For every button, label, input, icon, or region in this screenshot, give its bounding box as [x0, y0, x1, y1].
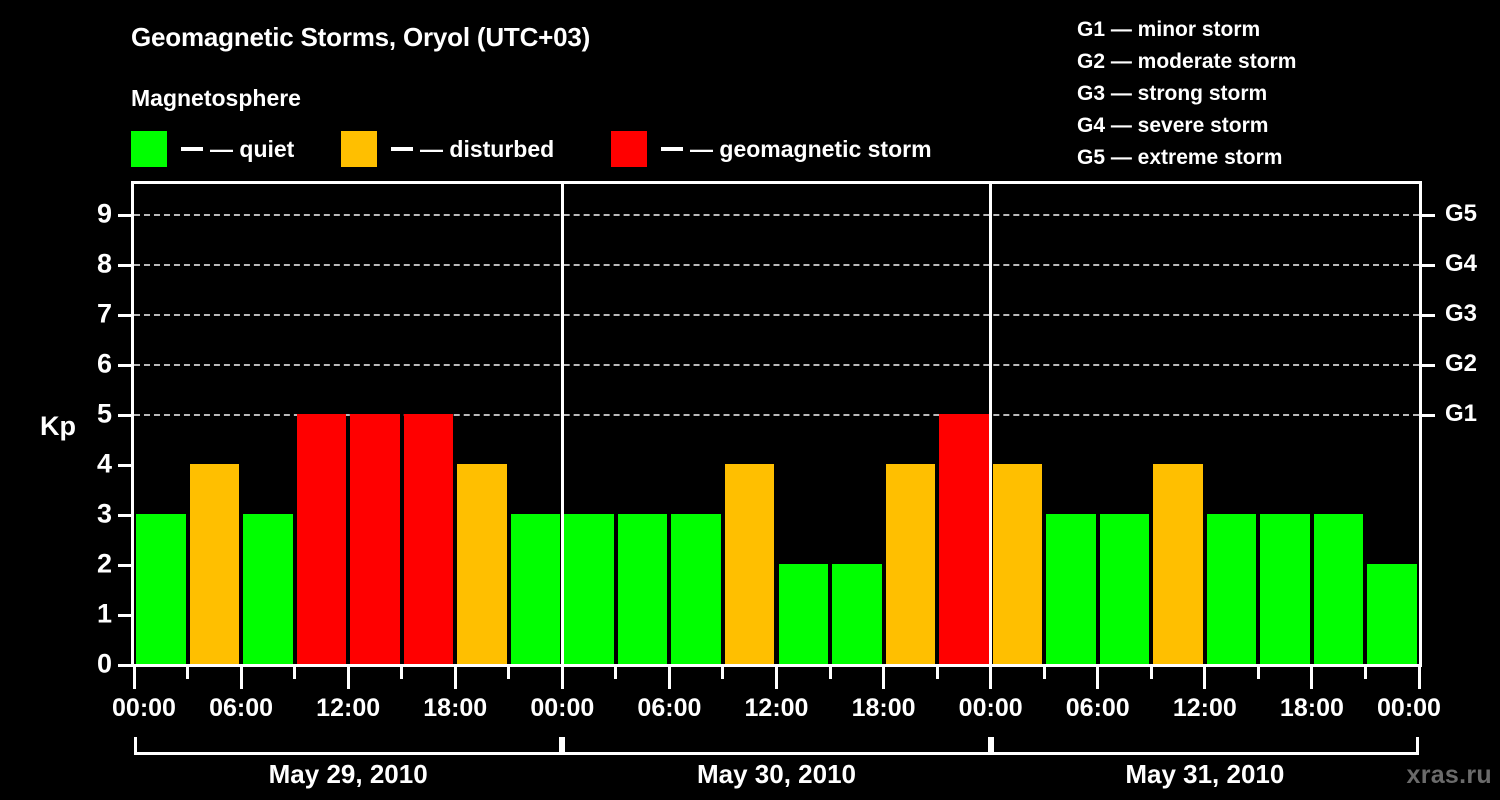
x-tick-minor [1257, 667, 1260, 679]
gridline-kp-8 [134, 264, 1419, 266]
x-tick-label-3: 18:00 [423, 694, 487, 723]
y-tick-1 [118, 614, 131, 617]
day-separator-1 [561, 184, 564, 664]
x-tick-minor [936, 667, 939, 679]
bar[interactable] [779, 564, 829, 664]
legend-dash-icon [181, 147, 203, 151]
legend-label: — geomagnetic storm [690, 136, 932, 163]
bar[interactable] [1046, 514, 1096, 664]
y-tick-label-9: 9 [82, 199, 112, 230]
x-tick-label-0: 00:00 [112, 694, 176, 723]
x-tick-major [347, 667, 350, 689]
y-tick-2 [118, 564, 131, 567]
x-tick-major [1418, 667, 1421, 689]
plot-area: 0123456789G1G2G3G4G500:0006:0012:0018:00… [131, 181, 1422, 667]
x-tick-major [989, 667, 992, 689]
x-tick-minor [1364, 667, 1367, 679]
bar[interactable] [243, 514, 293, 664]
legend-dash-icon [661, 147, 683, 151]
bar[interactable] [136, 514, 186, 664]
x-tick-label-5: 06:00 [637, 694, 701, 723]
disturbed-swatch [341, 131, 377, 167]
storm-swatch [611, 131, 647, 167]
x-tick-major [133, 667, 136, 689]
x-tick-major [668, 667, 671, 689]
bar[interactable] [190, 464, 240, 664]
y-tick-5 [118, 414, 131, 417]
x-tick-major [1310, 667, 1313, 689]
x-tick-label-10: 12:00 [1173, 694, 1237, 723]
y-axis-title: Kp [40, 411, 76, 442]
gscale-line-2: G2 — moderate storm [1077, 46, 1296, 78]
bar[interactable] [832, 564, 882, 664]
date-label-3: May 31, 2010 [1125, 759, 1284, 790]
date-label-1: May 29, 2010 [269, 759, 428, 790]
bar[interactable] [564, 514, 614, 664]
x-tick-minor [614, 667, 617, 679]
y-tick-label-3: 3 [82, 499, 112, 530]
x-tick-major [1096, 667, 1099, 689]
gscale-line-3: G3 — strong storm [1077, 78, 1296, 110]
x-tick-label-7: 18:00 [852, 694, 916, 723]
y-tick-label-0: 0 [82, 649, 112, 680]
date-label-2: May 30, 2010 [697, 759, 856, 790]
bar[interactable] [297, 414, 347, 664]
g-label-G3: G3 [1445, 300, 1477, 328]
x-tick-major [882, 667, 885, 689]
day-separator-2 [989, 184, 992, 664]
gridline-kp-9 [134, 214, 1419, 216]
x-tick-minor [1150, 667, 1153, 679]
date-bracket-3 [991, 737, 1419, 755]
plot-inner: 0123456789G1G2G3G4G500:0006:0012:0018:00… [134, 184, 1419, 664]
y-tick-3 [118, 514, 131, 517]
g-label-G2: G2 [1445, 350, 1477, 378]
gscale-line-1: G1 — minor storm [1077, 14, 1296, 46]
legend-item-0: — quiet [131, 131, 294, 167]
x-tick-label-2: 12:00 [316, 694, 380, 723]
y-tick-0 [118, 664, 131, 667]
y-tick-8 [118, 264, 131, 267]
watermark: xras.ru [1407, 761, 1493, 790]
legend-item-2: — geomagnetic storm [611, 131, 932, 167]
x-tick-label-4: 00:00 [530, 694, 594, 723]
page-title: Geomagnetic Storms, Oryol (UTC+03) [131, 22, 590, 53]
bar[interactable] [404, 414, 454, 664]
x-tick-minor [186, 667, 189, 679]
bar[interactable] [725, 464, 775, 664]
x-tick-minor [1043, 667, 1046, 679]
g-tick-G3 [1422, 314, 1435, 317]
x-tick-major [1203, 667, 1206, 689]
x-tick-major [561, 667, 564, 689]
x-tick-label-8: 00:00 [959, 694, 1023, 723]
x-tick-minor [507, 667, 510, 679]
bar[interactable] [886, 464, 936, 664]
quiet-swatch [131, 131, 167, 167]
bar[interactable] [350, 414, 400, 664]
x-tick-label-12: 00:00 [1377, 694, 1441, 723]
y-tick-label-4: 4 [82, 449, 112, 480]
geomagnetic-storm-chart: Geomagnetic Storms, Oryol (UTC+03) Magne… [0, 0, 1500, 800]
date-bracket-2 [562, 737, 990, 755]
bar[interactable] [1314, 514, 1364, 664]
x-tick-label-11: 18:00 [1280, 694, 1344, 723]
gridline-kp-7 [134, 314, 1419, 316]
x-tick-minor [400, 667, 403, 679]
x-tick-minor [829, 667, 832, 679]
legend-item-1: — disturbed [341, 131, 554, 167]
gscale-line-4: G4 — severe storm [1077, 110, 1296, 142]
bar[interactable] [1260, 514, 1310, 664]
bar[interactable] [1100, 514, 1150, 664]
bar[interactable] [939, 414, 989, 664]
y-tick-4 [118, 464, 131, 467]
y-tick-7 [118, 314, 131, 317]
legend-dash-icon [391, 147, 413, 151]
y-tick-9 [118, 214, 131, 217]
bar[interactable] [618, 514, 668, 664]
legend-label: — quiet [210, 136, 294, 163]
bar[interactable] [511, 514, 561, 664]
g-tick-G2 [1422, 364, 1435, 367]
bar[interactable] [671, 514, 721, 664]
date-bracket-1 [134, 737, 562, 755]
g-label-G4: G4 [1445, 250, 1477, 278]
bar[interactable] [1367, 564, 1417, 664]
x-tick-label-9: 06:00 [1066, 694, 1130, 723]
y-tick-label-8: 8 [82, 249, 112, 280]
x-tick-major [775, 667, 778, 689]
x-tick-minor [293, 667, 296, 679]
gridline-kp-6 [134, 364, 1419, 366]
gscale-legend: G1 — minor stormG2 — moderate stormG3 — … [1077, 14, 1296, 174]
x-tick-major [454, 667, 457, 689]
y-tick-label-7: 7 [82, 299, 112, 330]
x-tick-major [240, 667, 243, 689]
y-tick-label-6: 6 [82, 349, 112, 380]
bar[interactable] [457, 464, 507, 664]
y-tick-label-5: 5 [82, 399, 112, 430]
g-tick-G5 [1422, 214, 1435, 217]
g-tick-G4 [1422, 264, 1435, 267]
y-tick-label-2: 2 [82, 549, 112, 580]
x-tick-minor [721, 667, 724, 679]
g-tick-G1 [1422, 414, 1435, 417]
x-tick-label-6: 12:00 [745, 694, 809, 723]
bar[interactable] [1153, 464, 1203, 664]
gscale-line-5: G5 — extreme storm [1077, 142, 1296, 174]
g-label-G1: G1 [1445, 400, 1477, 428]
y-tick-label-1: 1 [82, 599, 112, 630]
y-tick-6 [118, 364, 131, 367]
bar[interactable] [993, 464, 1043, 664]
chart-subtitle: Magnetosphere [131, 85, 301, 112]
x-tick-label-1: 06:00 [209, 694, 273, 723]
bar[interactable] [1207, 514, 1257, 664]
g-label-G5: G5 [1445, 200, 1477, 228]
legend-label: — disturbed [420, 136, 554, 163]
